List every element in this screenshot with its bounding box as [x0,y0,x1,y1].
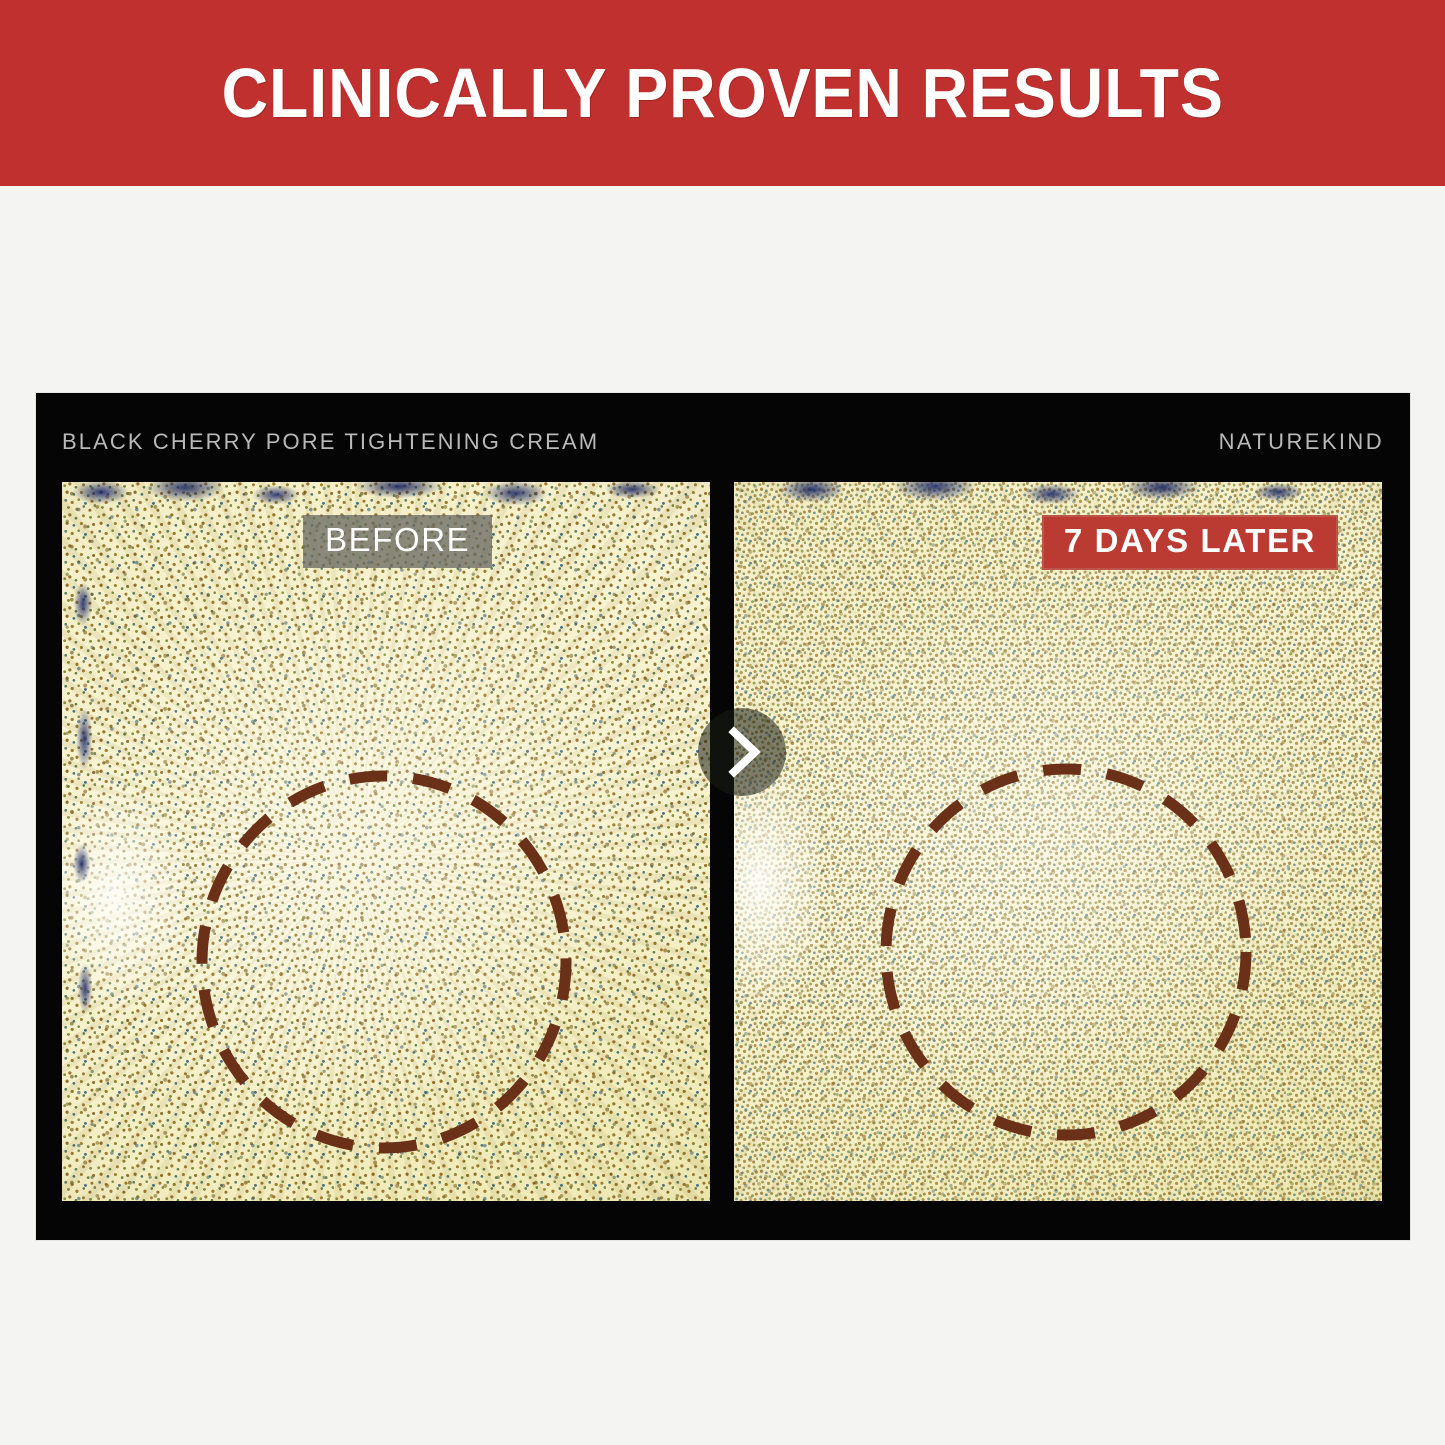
after-label-badge: 7 DAYS LATER [1042,515,1338,570]
after-image-pane[interactable]: 7 DAYS LATER [734,482,1382,1201]
before-after-comparison: BEFORE 7 DAYS LATER [62,482,1382,1201]
page-title: CLINICALLY PROVEN RESULTS [221,58,1223,128]
brand-name-label: NATUREKIND [1219,429,1384,455]
product-name-label: BLACK CHERRY PORE TIGHTENING CREAM [62,429,599,455]
card-header: BLACK CHERRY PORE TIGHTENING CREAM NATUR… [62,419,1384,465]
comparison-card: BLACK CHERRY PORE TIGHTENING CREAM NATUR… [36,393,1410,1240]
edge-artifact-left-before [70,562,96,1082]
comparison-next-button[interactable] [698,708,786,796]
skin-vignette-after [734,482,1382,1201]
header-banner: CLINICALLY PROVEN RESULTS [0,0,1445,186]
chevron-right-icon [724,726,764,778]
before-image-pane[interactable]: BEFORE [62,482,710,1201]
before-label-badge: BEFORE [303,515,492,568]
